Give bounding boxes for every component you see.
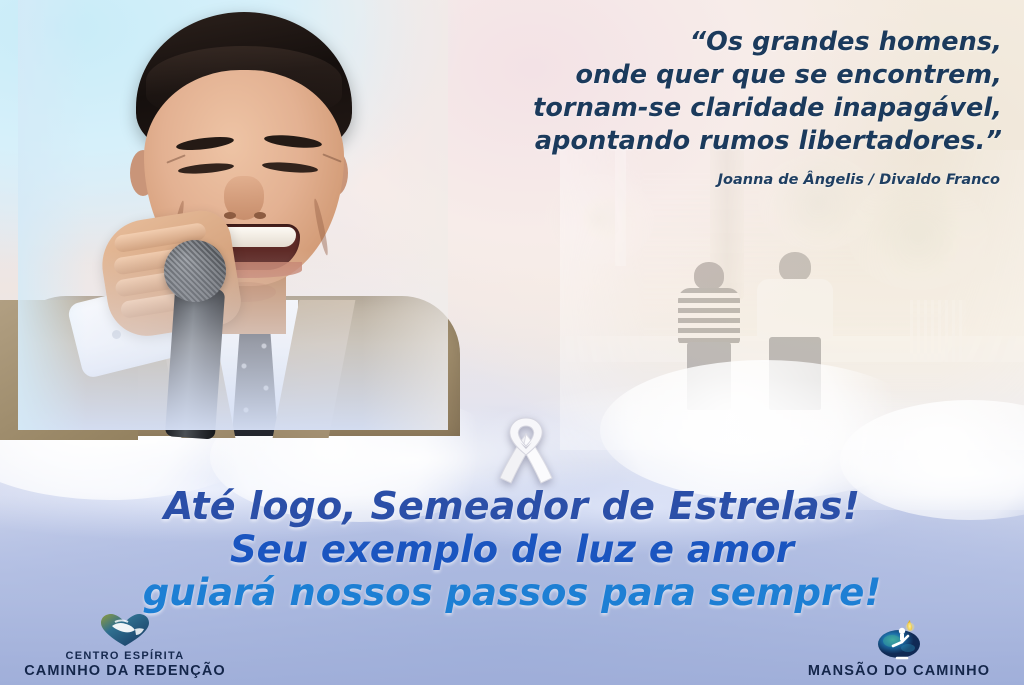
- logo-centro-espirita: CENTRO ESPÍRITA CAMINHO DA REDENÇÃO: [10, 613, 240, 679]
- headline-line-1: Até logo, Semeador de Estrelas!: [0, 487, 1024, 525]
- quote-attribution: Joanna de Ângelis / Divaldo Franco: [440, 172, 1000, 188]
- walking-figure-striped: [676, 262, 742, 410]
- divaldo-franco-portrait: [18, 0, 448, 430]
- headline-line-3: guiará nossos passos para sempre!: [0, 574, 1024, 611]
- portrait-edge-mask: [18, 0, 448, 430]
- walking-figure-white: [756, 252, 834, 410]
- ribbon-icon: [487, 412, 565, 490]
- quote-line-3: tornam-se claridade inapagável,: [442, 92, 1002, 125]
- gate-shape: [910, 300, 966, 362]
- memorial-poster: “Os grandes homens, onde quer que se enc…: [0, 0, 1024, 685]
- figure-head: [694, 262, 724, 290]
- logo-right-line-1: MANSÃO DO CAMINHO: [784, 663, 1014, 679]
- figure-torso: [757, 279, 833, 339]
- background-photo-two-figures: [560, 150, 1024, 450]
- quote-line-4: apontando rumos libertadores.”: [442, 125, 1002, 158]
- logo-left-line-2: CAMINHO DA REDENÇÃO: [10, 663, 240, 679]
- figure-head: [779, 252, 811, 282]
- figure-torso: [678, 288, 740, 344]
- quote-line-2: onde quer que se encontrem,: [442, 59, 1002, 92]
- headline-block: Até logo, Semeador de Estrelas! Seu exem…: [0, 487, 1024, 611]
- quote-line-1: “Os grandes homens,: [442, 26, 1002, 59]
- logo-left-line-1: CENTRO ESPÍRITA: [10, 650, 240, 663]
- white-mourning-ribbon: [487, 412, 565, 490]
- globe-figure-torch-icon: [875, 620, 923, 660]
- figure-legs: [769, 337, 821, 410]
- logo-mansao-do-caminho: MANSÃO DO CAMINHO: [784, 620, 1014, 679]
- palm-foliage: [848, 180, 988, 290]
- headline-line-2: Seu exemplo de luz e amor: [0, 531, 1024, 568]
- quote-block: “Os grandes homens, onde quer que se enc…: [442, 26, 1002, 158]
- figure-legs: [687, 342, 731, 410]
- heart-hands-icon: [99, 613, 151, 647]
